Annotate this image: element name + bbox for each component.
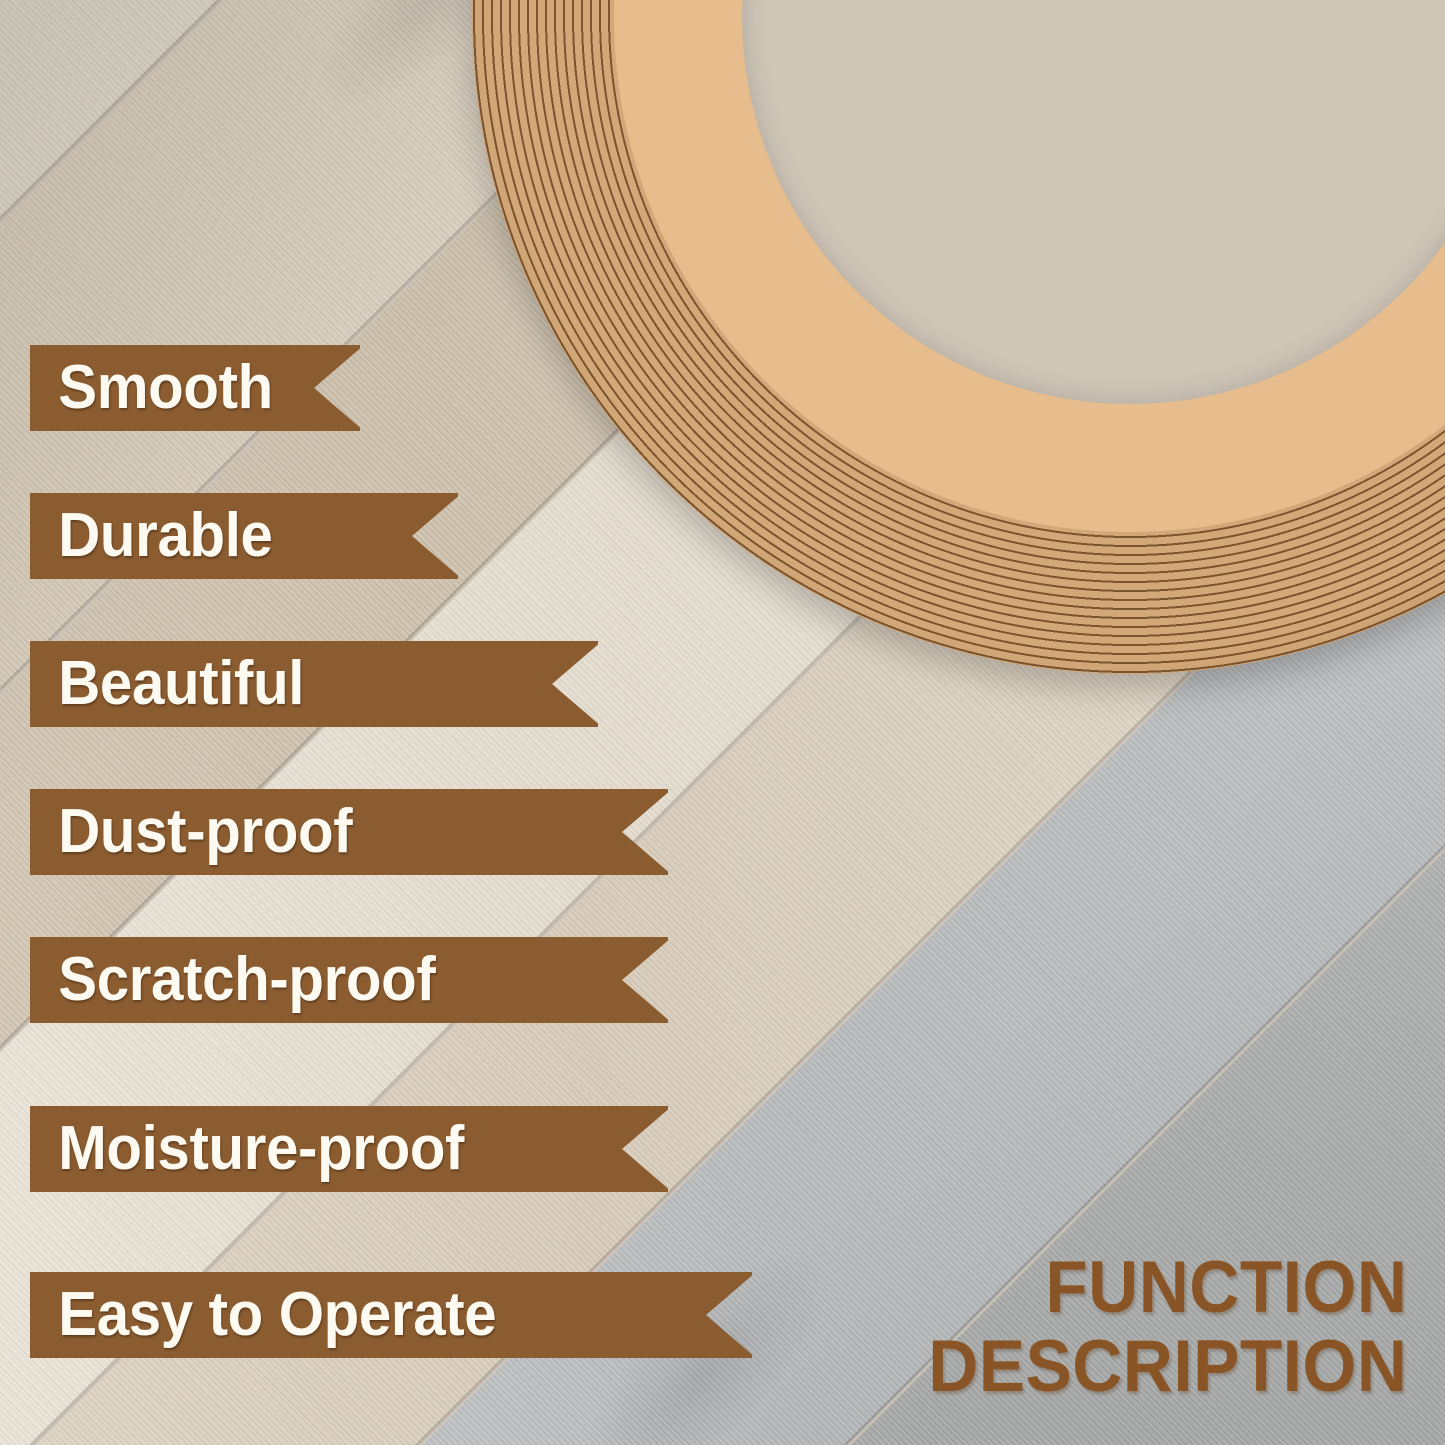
- feature-banner-label: Moisture-proof: [30, 1118, 464, 1180]
- feature-banner-label: Smooth: [30, 357, 273, 419]
- feature-banner[interactable]: Scratch-proof: [30, 937, 668, 1023]
- heading-line-2: DESCRIPTION: [928, 1328, 1407, 1407]
- feature-banner[interactable]: Durable: [30, 493, 458, 579]
- feature-banner[interactable]: Beautiful: [30, 641, 598, 727]
- product-infographic: Smooth Durable Beautiful Dust-proof Scra…: [0, 0, 1445, 1445]
- feature-banner-label: Durable: [30, 505, 273, 567]
- feature-banner[interactable]: Moisture-proof: [30, 1106, 668, 1192]
- function-description-heading: FUNCTION DESCRIPTION: [903, 1249, 1407, 1407]
- feature-banner[interactable]: Smooth: [30, 345, 360, 431]
- feature-banner-label: Beautiful: [30, 653, 304, 715]
- feature-banner[interactable]: Dust-proof: [30, 789, 668, 875]
- heading-line-1: FUNCTION: [928, 1249, 1407, 1328]
- feature-banner-label: Dust-proof: [30, 801, 352, 863]
- feature-banner[interactable]: Easy to Operate: [30, 1272, 752, 1358]
- feature-banner-label: Scratch-proof: [30, 949, 435, 1011]
- feature-banner-label: Easy to Operate: [30, 1284, 496, 1346]
